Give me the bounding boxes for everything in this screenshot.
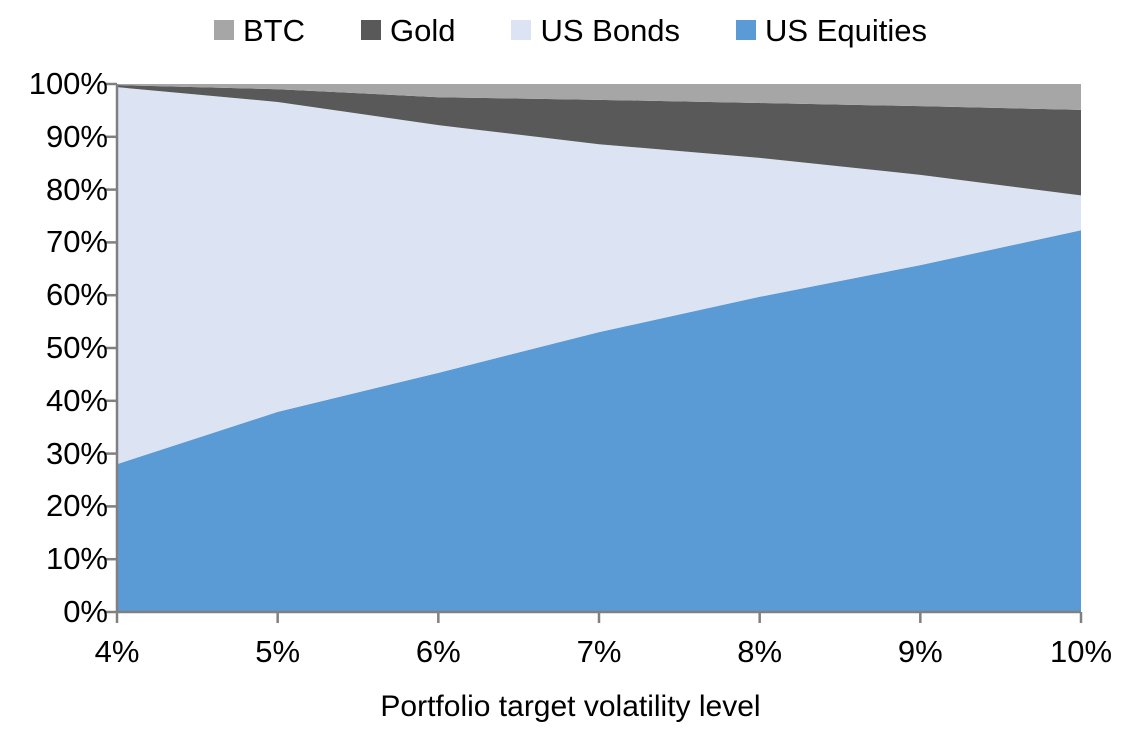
x-axis-tick-label: 6% [416, 636, 461, 667]
x-axis-tick-label: 8% [737, 636, 782, 667]
x-axis-title: Portfolio target volatility level [0, 690, 1141, 724]
x-axis-tick-label: 4% [95, 636, 140, 667]
x-axis-tick-label: 5% [255, 636, 300, 667]
x-axis-tick-label: 9% [898, 636, 943, 667]
stacked-area-chart: BTCGoldUS BondsUS Equities 0%10%20%30%40… [0, 0, 1141, 742]
x-axis-tick-label: 10% [1050, 636, 1112, 667]
x-axis-tick-labels: 4%5%6%7%8%9%10% [0, 0, 1141, 742]
x-axis-tick-label: 7% [577, 636, 622, 667]
